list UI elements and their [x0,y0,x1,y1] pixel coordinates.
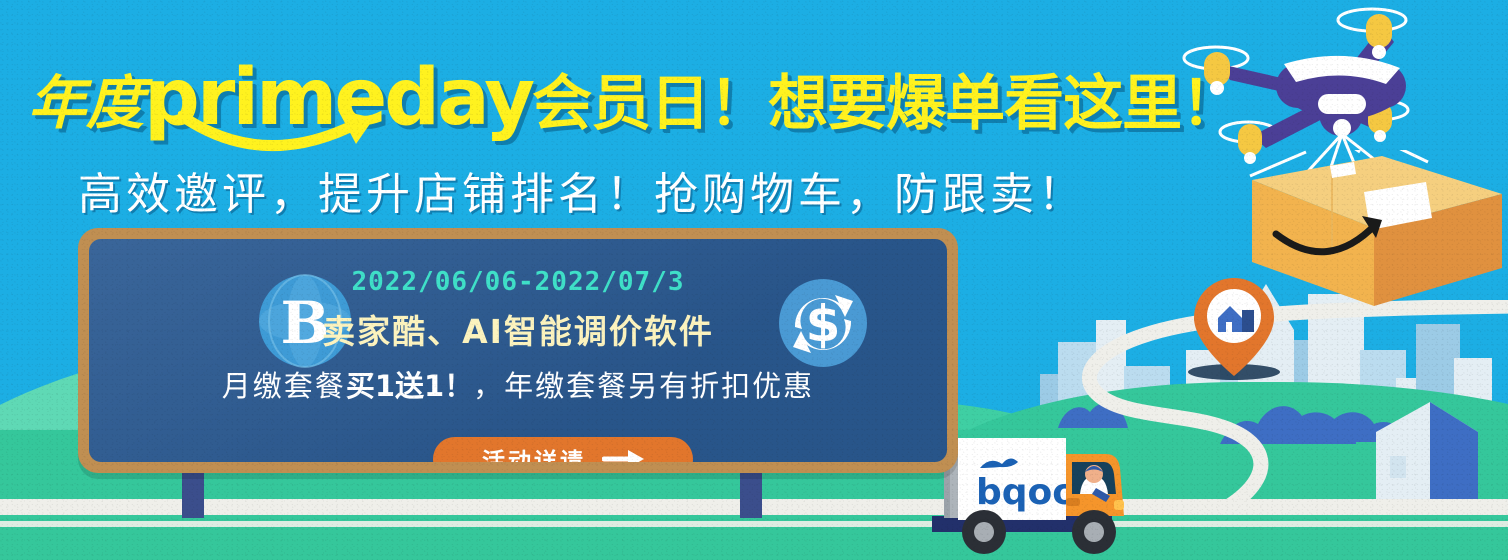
offer-highlight: 买1送1！ [346,369,473,403]
road-stripe-thin [0,521,1508,527]
headline-prefix: 年度 [28,56,144,140]
map-pin-icon [1192,276,1276,380]
billboard-post-left [182,470,204,518]
billboard-panel: B $ 2022/06/06-2022/07/3 卖家酷、AI智能调价软件 月缴… [89,239,947,462]
billboard-post-right [740,470,762,518]
headline-suffix: 会员日！想要爆单看这里！ [532,55,1240,142]
promo-banner: bqool 年度 primeday 会员日！想要爆单看这里！ 高效邀评，提升店铺… [0,0,1508,560]
amazon-package-box [1236,150,1508,310]
cta-button[interactable]: 活动详请 [433,437,693,462]
promo-date-range: 2022/06/06-2022/07/3 [89,267,947,297]
offer-suffix: ，年缴套餐另有折扣优惠 [473,369,814,403]
home-location-pin [1192,276,1276,386]
promo-offer-text: 月缴套餐买1送1！，年缴套餐另有折扣优惠 [89,363,947,405]
promo-product-name: 卖家酷、AI智能调价软件 [89,305,947,353]
amazon-smile-swoosh-icon [178,104,418,158]
offer-prefix: 月缴套餐 [222,369,346,403]
subtitle: 高效邀评，提升店铺排名！抢购物车，防跟卖！ [78,158,1086,222]
billboard: B $ 2022/06/06-2022/07/3 卖家酷、AI智能调价软件 月缴… [78,228,958,473]
bqool-delivery-truck: bqool [928,412,1140,560]
cta-label: 活动详请 [482,442,586,462]
arrow-right-icon [602,448,644,462]
